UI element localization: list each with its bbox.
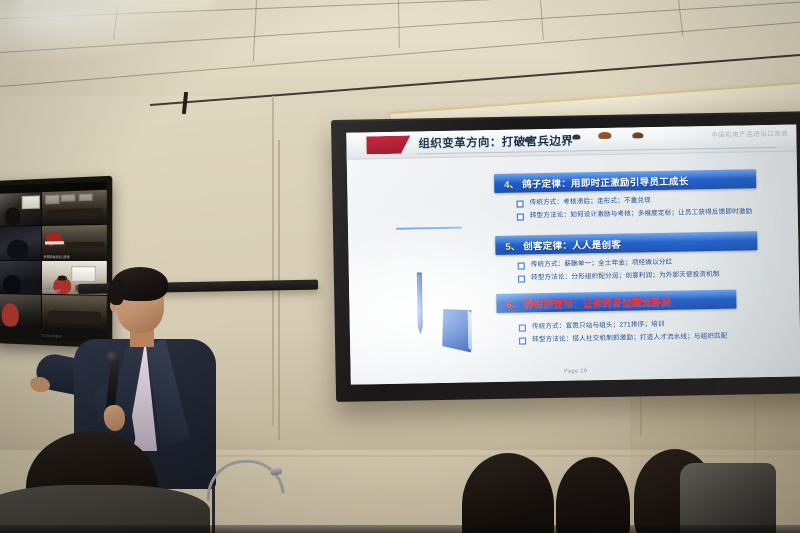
bullet-square-icon <box>518 275 525 282</box>
slide-block-number: 5、 <box>495 238 523 253</box>
slide-bullet-text: 转型方法论：如何设计激励与考核；多维度定标；让员工获得反馈即时激励 <box>530 207 753 220</box>
bullet-square-icon <box>519 337 526 344</box>
office-chair <box>680 463 776 533</box>
pen-tip-icon <box>418 326 423 334</box>
slide-bullet-text: 传统方式：宣贯只站与组头；271排序；培训 <box>532 320 665 331</box>
wall-corner-edge <box>272 96 274 426</box>
ceiling-grid-line-v3 <box>398 0 400 48</box>
slide-bullet-text: 传统方式：考核滞后；走形式；不重兑现 <box>529 196 651 207</box>
slide-bullet-text: 转型方法论：搭人社交机制抓激励；打造人才流水线；与组织匹配 <box>532 332 728 345</box>
notepad-page-edge-icon <box>468 310 473 350</box>
slide-bullet: 传统方式：宣贯只站与组头；271排序；培训 <box>519 319 737 332</box>
slide-block-number: 6、 <box>496 296 524 311</box>
slide-bullet: 传统方式：薪酬单一；全士年金；项经做以分红 <box>518 256 758 269</box>
slide-block-number: 4、 <box>494 176 522 191</box>
decor-blue-rule <box>396 227 462 230</box>
audience-head <box>556 457 630 533</box>
slide-block: 6、 乔布斯定律：让你的身边藏龙卧虎 传统方式：宣贯只站与组头；271排序；培训… <box>496 290 737 349</box>
slide-header-accent-tab <box>366 136 410 155</box>
bullet-square-icon <box>518 262 525 269</box>
ceiling <box>0 0 800 96</box>
video-tile[interactable] <box>0 192 41 226</box>
audience-head <box>462 453 554 533</box>
slide-block-bullets: 传统方式：考核滞后；走形式；不重兑现 转型方法论：如何设计激励与考核；多维度定标… <box>494 194 756 221</box>
slide-bullet: 转型方法论：分形组织配分润；创意利润；为外部天使投资机制 <box>518 269 758 282</box>
slide-page-number: Page 29 <box>564 368 587 374</box>
video-tile[interactable] <box>42 190 108 226</box>
slide-block-bullets: 传统方式：宣贯只站与组头；271排序；培训 转型方法论：搭人社交机制抓激励；打造… <box>497 319 737 345</box>
slide-bullet-text: 传统方式：薪酬单一；全士年金；项经做以分红 <box>531 258 673 270</box>
ceiling-grid-line-v2 <box>253 0 257 62</box>
logo-blob-3 <box>598 132 611 139</box>
slide-bullet: 转型方法论：如何设计激励与考核；多维度定标；让员工获得反馈即时激励 <box>517 207 757 220</box>
bullet-square-icon <box>517 213 524 220</box>
ceiling-grid-line-v4 <box>540 0 544 40</box>
slide-bullet-text: 转型方法论：分形组织配分润；创意利润；为外部天使投资机制 <box>531 270 720 282</box>
bullet-square-icon <box>517 200 524 207</box>
slide-block: 5、 创客定律：人人是创客 传统方式：薪酬单一；全士年金；项经做以分红 转型方法… <box>495 231 758 287</box>
slide-bullet: 传统方式：考核滞后；走形式；不重兑现 <box>516 194 756 207</box>
presenter-hair-side <box>108 279 124 305</box>
pen-icon <box>417 274 423 326</box>
bullet-square-icon <box>519 324 526 331</box>
main-display[interactable]: 组织变革方向：打破官兵边界 中国机电产品进出口商会 <box>331 111 800 402</box>
slide-block-bar: 5、 创客定律：人人是创客 <box>495 231 757 255</box>
gooseneck-microphone-arm <box>203 456 284 501</box>
slide-watermark: 中国机电产品进出口商会 <box>711 128 788 143</box>
slide-bullet: 转型方法论：搭人社交机制抓激励；打造人才流水线；与组织匹配 <box>519 332 737 345</box>
logo-blob-1 <box>524 137 533 142</box>
slide-block-bar: 4、 鸽子定律：用即时正激励引导员工成长 <box>494 169 756 193</box>
gooseneck-microphone-capsule <box>269 467 282 476</box>
conference-table-edge <box>0 525 800 533</box>
slide-block-title: 鸽子定律：用即时正激励引导员工成长 <box>522 173 689 190</box>
display-screen[interactable]: 组织变革方向：打破官兵边界 中国机电产品进出口商会 <box>346 124 800 384</box>
slide-block-bullets: 传统方式：薪酬单一；全士年金；项经做以分红 转型方法论：分形组织配分润；创意利润… <box>496 256 758 283</box>
video-tile[interactable] <box>0 260 41 293</box>
presentation-slide: 组织变革方向：打破官兵边界 中国机电产品进出口商会 <box>346 124 800 384</box>
slide-block: 4、 鸽子定律：用即时正激励引导员工成长 传统方式：考核滞后；走形式；不重兑现 … <box>494 169 757 225</box>
video-tile[interactable] <box>0 294 41 328</box>
screenshot-scene: 中国机电进出口商会 北京机电展厅 <box>0 0 800 533</box>
ceiling-light-glow <box>0 0 190 60</box>
slide-block-bar: 6、 乔布斯定律：让你的身边藏龙卧虎 <box>496 290 736 313</box>
logo-blob-2 <box>572 134 580 139</box>
logo-blob-4 <box>632 132 643 138</box>
slide-block-title: 创客定律：人人是创客 <box>523 236 621 252</box>
foreground-audience <box>0 413 800 533</box>
video-tile[interactable] <box>0 226 41 259</box>
slide-block-title: 乔布斯定律：让你的身边藏龙卧虎 <box>524 293 671 310</box>
